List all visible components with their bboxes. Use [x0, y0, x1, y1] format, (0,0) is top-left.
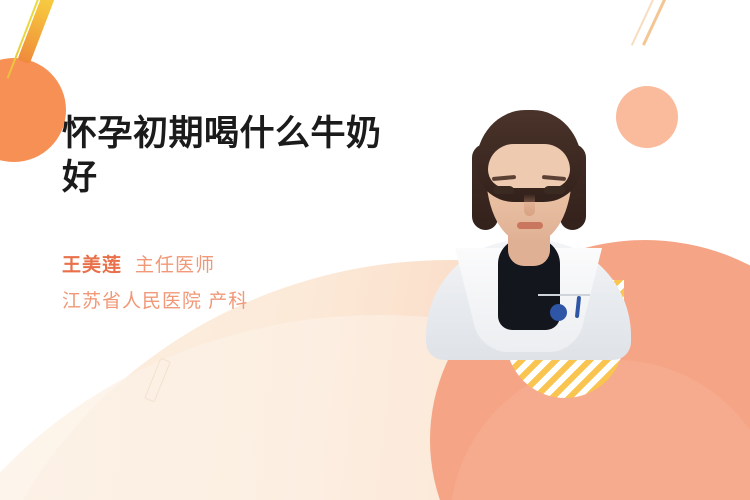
page-title: 怀孕初期喝什么牛奶好 — [62, 112, 397, 200]
outlined-diagonal-slash-icon — [144, 358, 171, 403]
doctor-title: 主任医师 — [135, 250, 215, 277]
doctor-name: 王美莲 — [62, 250, 122, 277]
diagonal-gradient-stripe-icon — [17, 0, 63, 64]
byline: 王美莲 主任医师 江苏省人民医院 产科 — [62, 250, 422, 313]
doctor-portrait-photo — [426, 90, 631, 358]
twin-diagonal-line-inner-icon — [631, 0, 657, 46]
doctor-hospital-department: 江苏省人民医院 产科 — [62, 286, 422, 313]
portrait-mouth — [517, 222, 543, 229]
portrait-coat-pocket — [538, 294, 590, 296]
twin-diagonal-line-outer-icon — [642, 0, 671, 46]
portrait-nose — [524, 194, 535, 216]
article-cover-card: 怀孕初期喝什么牛奶好 王美莲 主任医师 江苏省人民医院 产科 — [0, 0, 750, 500]
portrait-hospital-badge-icon — [550, 304, 567, 321]
byline-row-doctor: 王美莲 主任医师 — [62, 250, 422, 277]
portrait-forehead — [488, 144, 570, 188]
portrait-eye-right — [544, 186, 565, 194]
orange-circle-icon — [0, 58, 66, 162]
text-block: 怀孕初期喝什么牛奶好 王美莲 主任医师 江苏省人民医院 产科 — [62, 112, 422, 313]
portrait-cluster — [398, 58, 750, 418]
thin-yellow-line-icon — [7, 0, 48, 79]
portrait-eye-left — [493, 186, 514, 194]
